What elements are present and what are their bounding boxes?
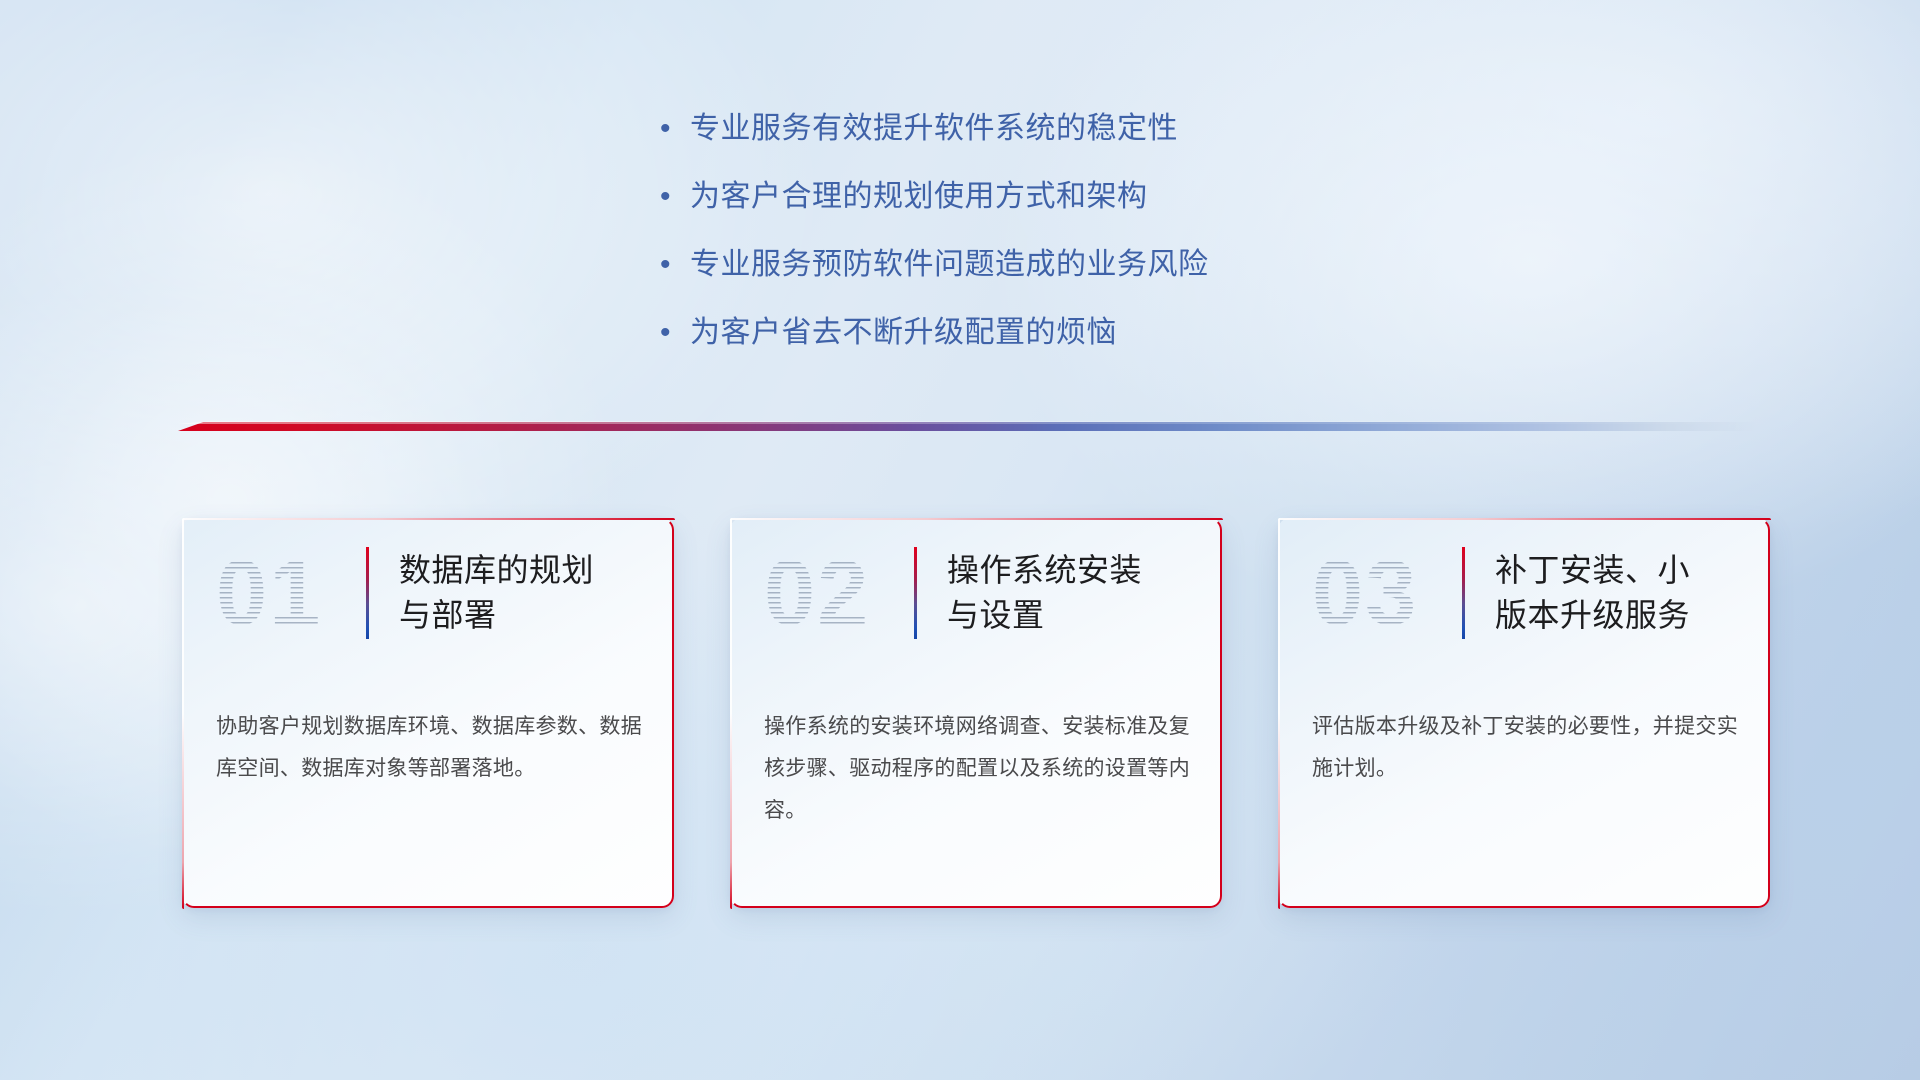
card-header: 01 数据库的规划 与部署 [182,518,674,668]
bullet-dot-icon: • [660,176,690,218]
section-divider [178,418,1758,436]
card-title: 数据库的规划 与部署 [399,548,594,638]
bullet-text: 专业服务预防软件问题造成的业务风险 [690,244,1209,286]
card-title: 补丁安装、小 版本升级服务 [1495,548,1690,638]
card-number-text: 03 [1312,547,1418,639]
list-item: • 为客户合理的规划使用方式和架构 [660,176,1560,218]
card-number: 01 [216,547,366,639]
card-row: 01 数据库的规划 与部署 协助客户规划数据库环境、数据库参数、数据库空间、数据… [182,518,1770,908]
card-body-text: 协助客户规划数据库环境、数据库参数、数据库空间、数据库对象等部署落地。 [216,706,644,790]
bullet-dot-icon: • [660,244,690,286]
bullet-dot-icon: • [660,312,690,354]
service-card-01[interactable]: 01 数据库的规划 与部署 协助客户规划数据库环境、数据库参数、数据库空间、数据… [182,518,674,908]
card-number: 02 [764,547,914,639]
card-number-text: 02 [764,547,870,639]
card-divider-rule [1462,547,1465,639]
list-item: • 专业服务有效提升软件系统的稳定性 [660,108,1560,150]
bullet-text: 为客户合理的规划使用方式和架构 [690,176,1148,218]
bullet-dot-icon: • [660,108,690,150]
list-item: • 为客户省去不断升级配置的烦恼 [660,312,1560,354]
card-header: 02 操作系统安装 与设置 [730,518,1222,668]
card-body-text: 操作系统的安装环境网络调查、安装标准及复核步骤、驱动程序的配置以及系统的设置等内… [764,706,1192,832]
card-divider-rule [366,547,369,639]
card-divider-rule [914,547,917,639]
list-item: • 专业服务预防软件问题造成的业务风险 [660,244,1560,286]
card-number-text: 01 [216,547,322,639]
card-title: 操作系统安装 与设置 [947,548,1142,638]
card-body-text: 评估版本升级及补丁安装的必要性，并提交实施计划。 [1312,706,1740,790]
slide-canvas: • 专业服务有效提升软件系统的稳定性 • 为客户合理的规划使用方式和架构 • 专… [0,0,1920,1080]
card-header: 03 补丁安装、小 版本升级服务 [1278,518,1770,668]
card-number: 03 [1312,547,1462,639]
bullet-text: 为客户省去不断升级配置的烦恼 [690,312,1117,354]
bullet-text: 专业服务有效提升软件系统的稳定性 [690,108,1178,150]
service-card-03[interactable]: 03 补丁安装、小 版本升级服务 评估版本升级及补丁安装的必要性，并提交实施计划… [1278,518,1770,908]
service-card-02[interactable]: 02 操作系统安装 与设置 操作系统的安装环境网络调查、安装标准及复核步骤、驱动… [730,518,1222,908]
bullet-list: • 专业服务有效提升软件系统的稳定性 • 为客户合理的规划使用方式和架构 • 专… [660,108,1560,380]
divider-highlight [178,421,1758,424]
